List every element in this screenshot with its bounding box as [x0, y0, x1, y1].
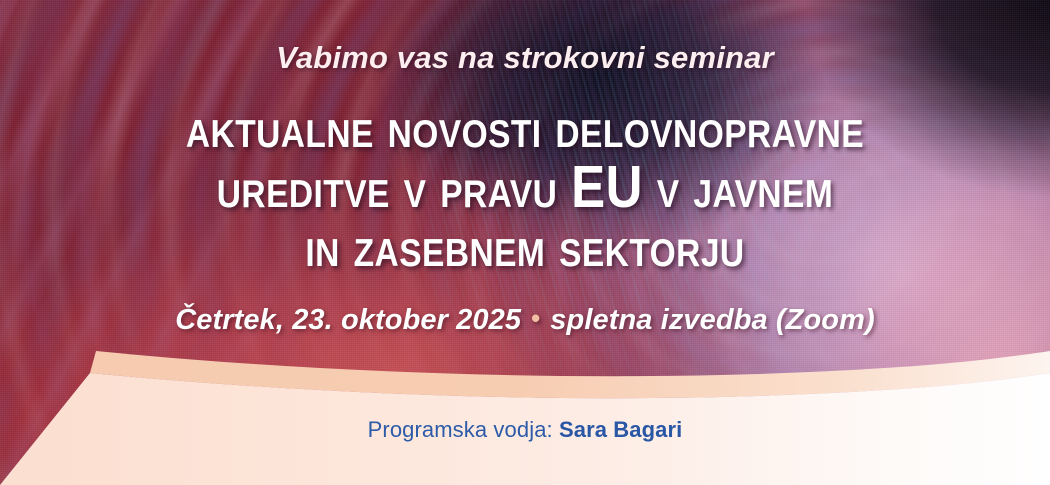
- title-line-2-part-b: v javnem: [643, 156, 833, 219]
- bottom-band: [0, 345, 1050, 485]
- program-leader-name: Sara Bagari: [559, 417, 682, 442]
- program-leader-label: Programska vodja:: [368, 417, 553, 442]
- bottom-band-shape: [0, 345, 1050, 485]
- banner-title: Aktualne novosti delovnopravne ureditve …: [0, 98, 1050, 276]
- title-line-1: Aktualne novosti delovnopravne: [74, 98, 977, 157]
- event-date: Četrtek, 23. oktober 2025: [175, 304, 521, 336]
- banner-kicker: Vabimo vas na strokovni seminar: [0, 40, 1050, 76]
- banner-dateline: Četrtek, 23. oktober 2025•spletna izvedb…: [0, 303, 1050, 337]
- title-line-2-part-a: ureditve v pravu: [217, 156, 571, 219]
- program-leader: Programska vodja: Sara Bagari: [0, 417, 1050, 443]
- dateline-separator-dot: •: [521, 303, 550, 333]
- title-line-2: ureditve v pravu EU v javnem: [74, 157, 977, 217]
- seminar-banner: Vabimo vas na strokovni seminar Aktualne…: [0, 0, 1050, 485]
- event-format: spletna izvedba (Zoom): [550, 304, 874, 336]
- title-line-2-eu: EU: [571, 153, 643, 220]
- title-line-3-text: in zasebnem sektorju: [305, 215, 744, 278]
- title-line-3: in zasebnem sektorju: [74, 217, 977, 276]
- title-line-1-text: Aktualne novosti delovnopravne: [186, 96, 864, 159]
